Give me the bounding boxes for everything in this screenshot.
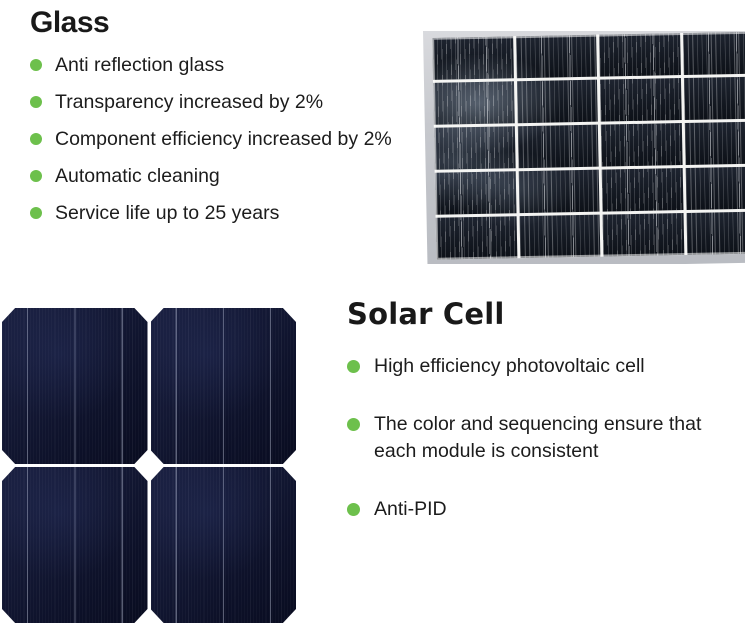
panel-cell — [516, 80, 597, 124]
bullet-dot-icon — [30, 170, 42, 182]
panel-cell — [599, 33, 680, 77]
list-item-label: Automatic cleaning — [55, 165, 220, 187]
panel-cell — [683, 76, 745, 120]
panel-cell — [516, 35, 597, 79]
solar-cell-feature-section: Solar Cell High efficiency photovoltaic … — [347, 298, 743, 554]
list-item: Transparency increased by 2% — [30, 89, 415, 115]
bullet-dot-icon — [347, 360, 360, 373]
list-item: Anti-PID — [347, 496, 743, 523]
solar-cell-photo — [2, 308, 296, 623]
list-item: Anti reflection glass — [30, 52, 415, 78]
bullet-dot-icon — [30, 96, 42, 108]
panel-cell — [436, 216, 517, 260]
bullet-dot-icon — [347, 418, 360, 431]
solar-cell-heading: Solar Cell — [347, 298, 743, 331]
panel-cell — [602, 168, 683, 212]
list-item: The color and sequencing ensure that eac… — [347, 411, 743, 465]
list-item: High efficiency photovoltaic cell — [347, 353, 743, 380]
panel-cell — [684, 121, 745, 165]
glass-bullet-list: Anti reflection glass Transparency incre… — [30, 52, 415, 226]
list-item-label: High efficiency photovoltaic cell — [374, 355, 645, 377]
list-item-label: The color and sequencing ensure that eac… — [374, 413, 701, 462]
panel-cell — [517, 125, 598, 169]
glass-feature-section: Glass Anti reflection glass Transparency… — [30, 6, 415, 237]
list-item-label: Anti reflection glass — [55, 54, 224, 76]
panel-cell — [686, 211, 745, 255]
mono-solar-cell — [2, 308, 148, 464]
panel-cell-grid — [432, 31, 745, 259]
panel-cell — [519, 215, 600, 259]
panel-cell — [601, 123, 682, 167]
panel-cell — [600, 78, 681, 122]
panel-cell — [603, 213, 684, 257]
list-item-label: Service life up to 25 years — [55, 202, 279, 224]
mono-solar-cell — [151, 308, 297, 464]
list-item: Service life up to 25 years — [30, 200, 415, 226]
list-item-label: Transparency increased by 2% — [55, 91, 323, 113]
panel-cell — [683, 31, 745, 75]
list-item: Automatic cleaning — [30, 163, 415, 189]
panel-cell — [518, 170, 599, 214]
panel-frame — [423, 31, 745, 264]
mono-solar-cell — [2, 467, 148, 623]
solar-cell-bullet-list: High efficiency photovoltaic cell The co… — [347, 353, 743, 523]
list-item-label: Component efficiency increased by 2% — [55, 128, 392, 150]
bullet-dot-icon — [30, 59, 42, 71]
mono-solar-cell — [151, 467, 297, 623]
panel-cell — [685, 166, 745, 210]
panel-glass-surface — [432, 31, 745, 259]
panel-cell — [432, 36, 513, 80]
bullet-dot-icon — [30, 207, 42, 219]
solar-panel-photo — [423, 31, 745, 264]
list-item-label: Anti-PID — [374, 498, 447, 520]
list-item: Component efficiency increased by 2% — [30, 126, 415, 152]
bullet-dot-icon — [347, 503, 360, 516]
bullet-dot-icon — [30, 133, 42, 145]
panel-cell — [433, 81, 514, 125]
panel-cell — [434, 126, 515, 170]
glass-heading: Glass — [30, 6, 415, 40]
panel-cell — [435, 171, 516, 215]
